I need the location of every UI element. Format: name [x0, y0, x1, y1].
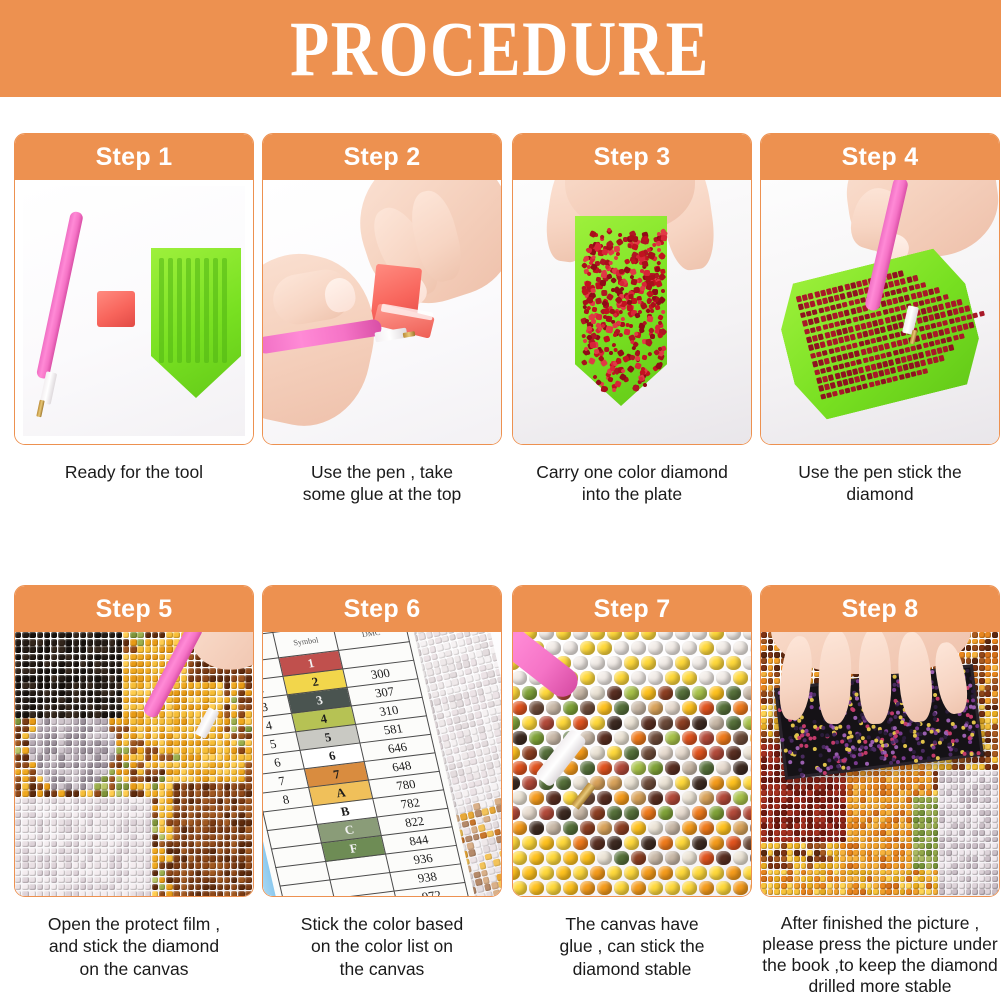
canvas-bead [590, 836, 605, 850]
canvas-bead [992, 672, 998, 678]
canvas-bead [972, 817, 978, 823]
canvas-bead [840, 863, 846, 869]
canvas-bead [665, 881, 680, 895]
canvas-bead [972, 632, 978, 638]
canvas-bead [245, 848, 251, 854]
canvas-bead [847, 889, 853, 895]
canvas-bead [37, 826, 43, 832]
canvas-bead [145, 834, 151, 840]
canvas-bead [913, 870, 919, 876]
canvas-bead [137, 805, 143, 811]
canvas-bead [101, 884, 107, 890]
diamond-bead [605, 325, 613, 333]
step-6-header: Step 6 [263, 586, 501, 632]
canvas-bead [761, 738, 767, 744]
canvas-bead [682, 671, 697, 685]
diamond-bead [906, 355, 912, 362]
canvas-bead [65, 848, 71, 854]
canvas-bead [498, 713, 501, 721]
canvas-bead [173, 704, 179, 710]
canvas-bead [44, 718, 50, 724]
diamond-bead [886, 377, 892, 384]
diamond-bead [820, 393, 826, 400]
canvas-bead [109, 841, 115, 847]
canvas-bead [774, 764, 780, 770]
canvas-bead [15, 877, 21, 883]
step-card-7: Step 7 The canvas have glue , can stick … [512, 585, 752, 980]
canvas-bead [906, 850, 912, 856]
canvas-bead [130, 733, 136, 739]
canvas-bead [985, 883, 991, 889]
diamond-bead [956, 299, 962, 306]
canvas-bead [886, 777, 892, 783]
diamond-bead [894, 358, 900, 365]
canvas-bead [641, 632, 656, 640]
board-bead [790, 739, 794, 743]
canvas-bead [37, 668, 43, 674]
diamond-bead [612, 372, 616, 376]
diamond-bead [896, 314, 902, 321]
canvas-bead [761, 711, 767, 717]
canvas-bead [58, 805, 64, 811]
canvas-bead [22, 711, 28, 717]
canvas-bead [224, 862, 230, 868]
canvas-bead [188, 798, 194, 804]
canvas-bead [946, 843, 952, 849]
canvas-bead [913, 817, 919, 823]
canvas-bead [972, 889, 978, 895]
canvas-bead [137, 711, 143, 717]
canvas-bead [992, 870, 998, 876]
canvas-bead [209, 877, 215, 883]
diamond-bead [960, 315, 966, 322]
diamond-bead [824, 384, 830, 391]
canvas-bead [860, 856, 866, 862]
canvas-bead [913, 837, 919, 843]
canvas-bead [44, 790, 50, 796]
canvas-bead [65, 718, 71, 724]
canvas-bead [867, 823, 873, 829]
diamond-bead [860, 375, 866, 382]
canvas-bead [29, 783, 35, 789]
canvas-bead [886, 823, 892, 829]
canvas-bead [992, 724, 998, 730]
diamond-bead [924, 350, 930, 357]
board-bead [813, 746, 817, 750]
canvas-bead [496, 676, 501, 684]
canvas-bead [65, 862, 71, 868]
canvas-bead [834, 837, 840, 843]
canvas-bead [152, 654, 158, 660]
canvas-bead [886, 850, 892, 856]
canvas-bead [946, 797, 952, 803]
canvas-bead [224, 747, 230, 753]
canvas-bead [166, 733, 172, 739]
canvas-bead [814, 863, 820, 869]
canvas-bead [774, 757, 780, 763]
canvas-bead [73, 668, 79, 674]
canvas-bead [224, 754, 230, 760]
canvas-bead [73, 639, 79, 645]
canvas-bead [774, 652, 780, 658]
canvas-bead [733, 821, 748, 835]
canvas-bead [173, 826, 179, 832]
canvas-bead [166, 841, 172, 847]
canvas-bead [966, 830, 972, 836]
canvas-bead [675, 656, 690, 670]
canvas-bead [145, 812, 151, 818]
canvas-bead [768, 724, 774, 730]
canvas-bead [188, 697, 194, 703]
canvas-bead [101, 682, 107, 688]
canvas-bead [919, 856, 925, 862]
board-bead [855, 696, 859, 700]
diamond-bead [634, 350, 640, 356]
canvas-bead [58, 733, 64, 739]
canvas-bead [195, 711, 201, 717]
canvas-bead [946, 883, 952, 889]
canvas-bead [173, 726, 179, 732]
canvas-bead [44, 884, 50, 890]
canvas-bead [231, 726, 237, 732]
canvas-bead [238, 747, 244, 753]
canvas-bead [137, 682, 143, 688]
canvas-bead [145, 762, 151, 768]
canvas-bead [733, 851, 748, 865]
canvas-bead [22, 762, 28, 768]
canvas-bead [159, 834, 165, 840]
canvas-bead [73, 704, 79, 710]
canvas-bead [979, 810, 985, 816]
canvas-bead [926, 843, 932, 849]
canvas-bead [101, 654, 107, 660]
diamond-bead [898, 296, 904, 303]
canvas-bead [919, 870, 925, 876]
canvas-bead [217, 891, 223, 896]
canvas-bead [580, 881, 595, 895]
canvas-bead [202, 891, 208, 896]
canvas-bead [847, 856, 853, 862]
canvas-bead [202, 834, 208, 840]
canvas-bead [209, 682, 215, 688]
canvas-bead [152, 733, 158, 739]
canvas-bead [699, 821, 714, 835]
diamond-bead [876, 362, 882, 369]
canvas-bead [181, 762, 187, 768]
canvas-bead [648, 641, 663, 655]
canvas-bead [231, 805, 237, 811]
canvas-bead [209, 690, 215, 696]
diamond-bead [912, 353, 918, 360]
canvas-bead [87, 891, 93, 896]
canvas-bead [614, 881, 629, 895]
canvas-bead [152, 646, 158, 652]
diamond-bead [822, 376, 828, 383]
canvas-bead [840, 810, 846, 816]
step-5-scene [15, 632, 253, 896]
canvas-bead [966, 757, 972, 763]
canvas-bead [992, 705, 998, 711]
canvas-bead [867, 876, 873, 882]
canvas-bead [906, 863, 912, 869]
canvas-bead [73, 805, 79, 811]
canvas-bead [699, 731, 714, 745]
canvas-bead [992, 876, 998, 882]
canvas-bead [109, 870, 115, 876]
canvas-bead [860, 883, 866, 889]
canvas-bead [109, 646, 115, 652]
canvas-bead [123, 798, 129, 804]
canvas-bead [781, 837, 787, 843]
canvas-bead [80, 798, 86, 804]
diamond-bead [940, 311, 946, 318]
canvas-bead [794, 837, 800, 843]
diamond-bead [884, 369, 890, 376]
diamond-bead [926, 358, 932, 365]
canvas-bead [658, 746, 673, 760]
canvas-bead [65, 884, 71, 890]
canvas-bead [58, 718, 64, 724]
canvas-bead [972, 804, 978, 810]
canvas-bead [820, 883, 826, 889]
canvas-bead [51, 668, 57, 674]
canvas-bead [939, 883, 945, 889]
canvas-bead [853, 870, 859, 876]
canvas-bead [933, 823, 939, 829]
canvas-bead [217, 812, 223, 818]
canvas-bead [631, 641, 646, 655]
canvas-bead [768, 790, 774, 796]
canvas-bead [87, 812, 93, 818]
canvas-bead [238, 726, 244, 732]
canvas-bead [109, 783, 115, 789]
canvas-bead [886, 810, 892, 816]
canvas-bead [834, 830, 840, 836]
canvas-bead [94, 668, 100, 674]
canvas-bead [173, 848, 179, 854]
canvas-bead [900, 810, 906, 816]
canvas-bead [166, 826, 172, 832]
canvas-bead [781, 784, 787, 790]
canvas-bead [22, 726, 28, 732]
diamond-bead [862, 357, 868, 364]
canvas-bead [853, 863, 859, 869]
canvas-bead [87, 747, 93, 753]
canvas-bead [130, 834, 136, 840]
canvas-bead [726, 632, 741, 640]
canvas-bead [58, 862, 64, 868]
canvas-bead [926, 870, 932, 876]
canvas-bead [966, 797, 972, 803]
canvas-bead [94, 762, 100, 768]
canvas-bead [658, 776, 673, 790]
canvas-bead [827, 856, 833, 862]
canvas-bead [123, 812, 129, 818]
canvas-bead [217, 718, 223, 724]
canvas-bead [522, 866, 537, 880]
canvas-bead [195, 870, 201, 876]
canvas-bead [188, 826, 194, 832]
canvas-bead [761, 790, 767, 796]
canvas-bead [22, 632, 28, 638]
canvas-bead [716, 671, 731, 685]
canvas-bead [231, 870, 237, 876]
diamond-bead [916, 292, 922, 299]
canvas-bead [860, 889, 866, 895]
canvas-bead [787, 817, 793, 823]
diamond-bead [824, 358, 830, 365]
canvas-bead [116, 776, 122, 782]
canvas-bead [80, 639, 86, 645]
canvas-bead [130, 826, 136, 832]
canvas-bead [787, 810, 793, 816]
board-bead [955, 738, 959, 742]
canvas-bead [939, 889, 945, 895]
canvas-bead [959, 810, 965, 816]
canvas-bead [137, 762, 143, 768]
board-bead [872, 748, 876, 752]
canvas-bead [913, 856, 919, 862]
diamond-bead [954, 317, 960, 324]
canvas-bead [217, 884, 223, 890]
canvas-bead [761, 817, 767, 823]
canvas-bead [933, 764, 939, 770]
canvas-bead [992, 652, 998, 658]
canvas-bead [80, 654, 86, 660]
canvas-bead [29, 877, 35, 883]
diamond-bead [906, 277, 912, 284]
canvas-bead [761, 718, 767, 724]
canvas-bead [733, 731, 748, 745]
canvas-bead [893, 790, 899, 796]
canvas-bead [202, 862, 208, 868]
canvas-bead [217, 841, 223, 847]
canvas-bead [145, 682, 151, 688]
canvas-bead [224, 790, 230, 796]
canvas-bead [224, 877, 230, 883]
canvas-bead [840, 843, 846, 849]
canvas-bead [130, 798, 136, 804]
canvas-bead [224, 834, 230, 840]
canvas-bead [781, 804, 787, 810]
procedure-infographic: PROCEDURE Step 1 [0, 0, 1001, 1001]
canvas-bead [245, 783, 251, 789]
canvas-bead [992, 658, 998, 664]
canvas-bead [781, 889, 787, 895]
canvas-bead [29, 819, 35, 825]
canvas-bead [807, 784, 813, 790]
diamond-bead [866, 373, 872, 380]
canvas-bead [29, 855, 35, 861]
canvas-bead [781, 823, 787, 829]
canvas-bead [614, 821, 629, 835]
board-bead [857, 719, 861, 723]
diamond-bead [920, 334, 926, 341]
diamond-bead [816, 325, 822, 332]
canvas-bead [906, 810, 912, 816]
canvas-bead [181, 826, 187, 832]
canvas-bead [137, 769, 143, 775]
step-2-scene [263, 180, 501, 444]
canvas-bead [51, 826, 57, 832]
canvas-bead [979, 837, 985, 843]
diamond-bead [846, 292, 852, 299]
diamond-bead [864, 339, 870, 346]
canvas-bead [458, 639, 466, 647]
canvas-bead [893, 810, 899, 816]
canvas-bead [853, 823, 859, 829]
canvas-bead [152, 632, 158, 638]
canvas-bead [65, 754, 71, 760]
diamond-bead [818, 307, 824, 314]
canvas-bead [37, 834, 43, 840]
board-bead [891, 750, 895, 754]
canvas-bead [893, 804, 899, 810]
step-5-caption: Open the protect film , and stick the di… [14, 913, 254, 980]
canvas-bead [73, 870, 79, 876]
canvas-bead [217, 776, 223, 782]
diamond-bead [890, 341, 896, 348]
board-bead [931, 745, 935, 749]
diamond-bead [808, 344, 814, 351]
diamond-bead [936, 295, 942, 302]
canvas-bead [597, 641, 612, 655]
canvas-bead [847, 823, 853, 829]
canvas-bead [853, 837, 859, 843]
canvas-bead [563, 851, 578, 865]
canvas-bead [181, 740, 187, 746]
board-bead [883, 731, 887, 735]
canvas-bead [130, 790, 136, 796]
canvas-bead [173, 891, 179, 896]
canvas-bead [522, 746, 537, 760]
canvas-bead [224, 733, 230, 739]
canvas-bead [959, 870, 965, 876]
canvas-bead [29, 834, 35, 840]
canvas-bead [29, 682, 35, 688]
canvas-bead [116, 754, 122, 760]
canvas-bead [109, 632, 115, 638]
canvas-bead [15, 805, 21, 811]
diamond-bead [856, 358, 862, 365]
canvas-bead [80, 690, 86, 696]
canvas-bead [814, 830, 820, 836]
canvas-bead [972, 797, 978, 803]
canvas-bead [51, 891, 57, 896]
canvas-bead [979, 889, 985, 895]
canvas-bead [238, 762, 244, 768]
canvas-bead [498, 880, 501, 888]
canvas-bead [474, 711, 482, 719]
canvas-bead [513, 731, 527, 745]
canvas-bead [952, 804, 958, 810]
step-3-photo [513, 180, 751, 444]
canvas-bead [556, 776, 571, 790]
canvas-bead [245, 884, 251, 890]
diamond-bead [864, 313, 870, 320]
canvas-bead [641, 716, 656, 730]
canvas-bead [44, 776, 50, 782]
canvas-bead [774, 830, 780, 836]
canvas-bead [926, 777, 932, 783]
diamond-bead [874, 380, 880, 387]
canvas-bead [787, 784, 793, 790]
canvas-bead [159, 754, 165, 760]
canvas-bead [51, 747, 57, 753]
canvas-bead [860, 870, 866, 876]
canvas-bead [893, 777, 899, 783]
canvas-bead [972, 652, 978, 658]
